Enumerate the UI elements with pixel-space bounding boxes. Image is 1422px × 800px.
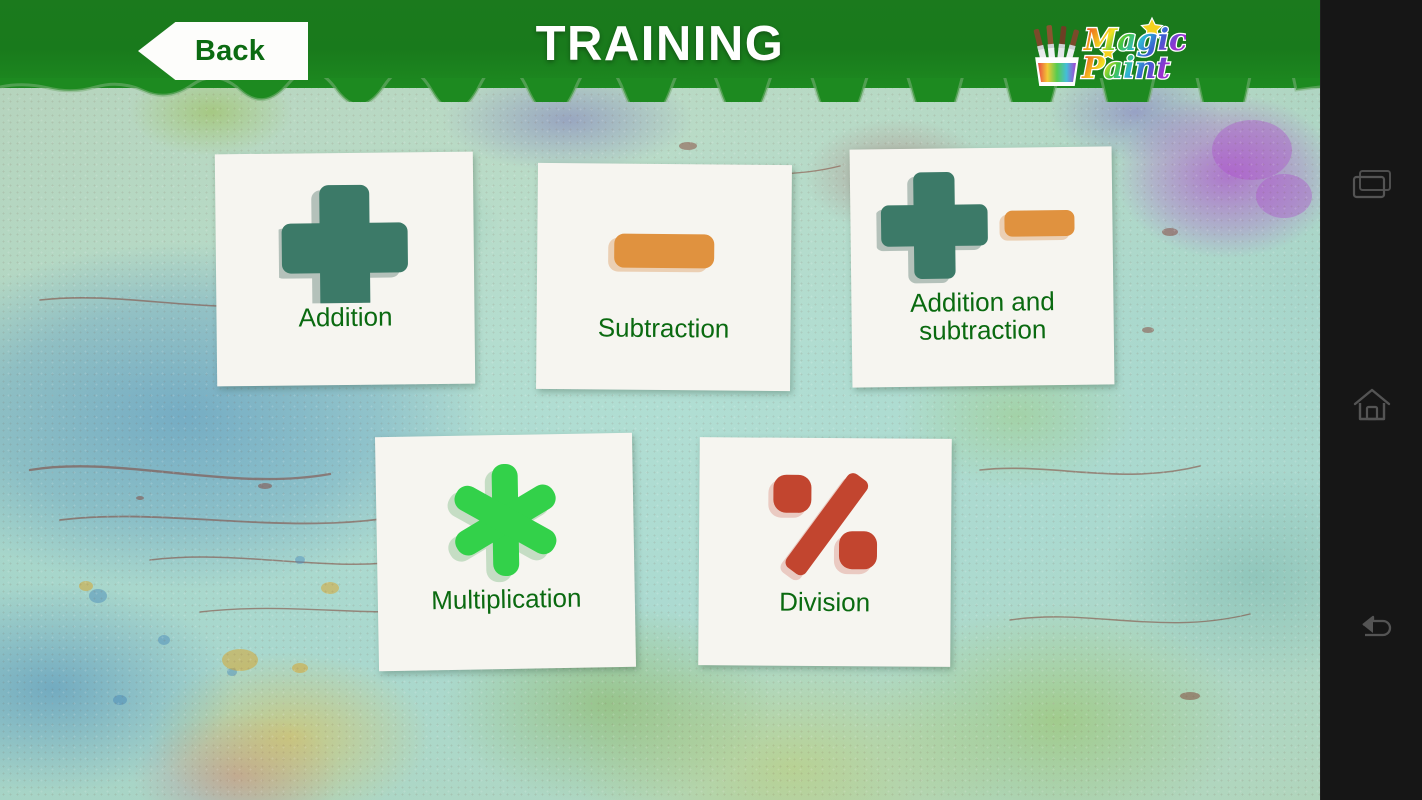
minus-icon — [537, 163, 792, 315]
card-label-division: Division — [699, 587, 951, 617]
training-card-addition[interactable]: Addition — [215, 152, 475, 387]
back-nav-button[interactable]: Back — [1321, 590, 1422, 660]
training-card-division[interactable]: Division — [698, 437, 952, 667]
training-card-addition-and-subtraction[interactable]: Addition and subtraction — [850, 146, 1115, 387]
back-button-label: Back — [138, 22, 308, 80]
training-card-multiplication[interactable]: Multiplication — [375, 433, 636, 671]
background-vignette — [0, 0, 1320, 800]
back-button[interactable]: Back — [138, 22, 308, 80]
card-label-line-2: subtraction — [858, 315, 1108, 346]
card-label-addition: Addition — [216, 302, 474, 333]
logo-text-paint: Paint — [1081, 51, 1170, 86]
app-root: Back TRAINING — [0, 0, 1422, 800]
recent-apps-button[interactable]: Recent apps — [1321, 150, 1422, 220]
plus-icon — [215, 152, 475, 305]
training-card-subtraction[interactable]: Subtraction — [536, 163, 792, 391]
percent-icon — [699, 437, 952, 589]
asterisk-icon — [375, 433, 635, 587]
card-label-addition-and-subtraction: Addition and subtraction — [851, 286, 1114, 345]
magic-paint-logo: Magic Paint Magic Paint — [1026, 16, 1186, 86]
game-stage: Back TRAINING — [0, 0, 1320, 800]
card-label-line-1: Addition and — [857, 286, 1107, 317]
home-button[interactable]: Home — [1321, 370, 1422, 440]
android-navigation-bar: Recent apps Home Back — [1320, 0, 1422, 800]
card-label-multiplication: Multiplication — [378, 583, 635, 616]
card-label-subtraction: Subtraction — [536, 313, 790, 343]
plus-minus-icon — [850, 146, 1114, 289]
